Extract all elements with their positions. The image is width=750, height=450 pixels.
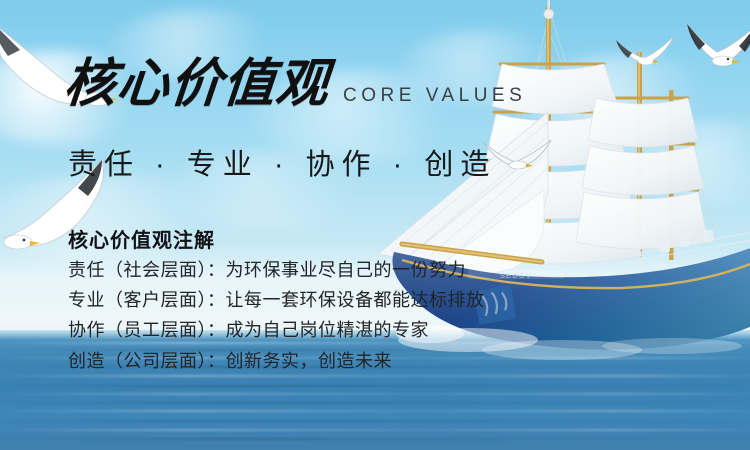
list-item: 协作（员工层面）：成为自己岗位精湛的专家 [68, 320, 485, 341]
core-values-poster: SEDOV [0, 0, 750, 450]
main-title-row: 核心价值观 CORE VALUES [64, 58, 526, 110]
list-item: 创造（公司层面）：创新务实，创造未来 [68, 351, 485, 372]
annotation-list: 责任（社会层面）：为环保事业尽自己的一份努力 专业（客户层面）：让每一套环保设备… [68, 260, 485, 372]
values-subtitle: 责任 · 专业 · 协作 · 创造 [68, 141, 496, 183]
page-title: 核心价值观 [62, 58, 332, 110]
list-item: 专业（客户层面）：让每一套环保设备都能达标排放 [68, 290, 485, 311]
section-heading: 核心价值观注解 [68, 224, 215, 253]
page-title-english: CORE VALUES [343, 86, 526, 110]
seagull-icon [614, 30, 678, 74]
text-content: 核心价值观 CORE VALUES 责任 · 专业 · 协作 · 创造 核心价值… [0, 0, 520, 450]
seagull-icon [683, 20, 750, 80]
list-item: 责任（社会层面）：为环保事业尽自己的一份努力 [68, 260, 485, 281]
